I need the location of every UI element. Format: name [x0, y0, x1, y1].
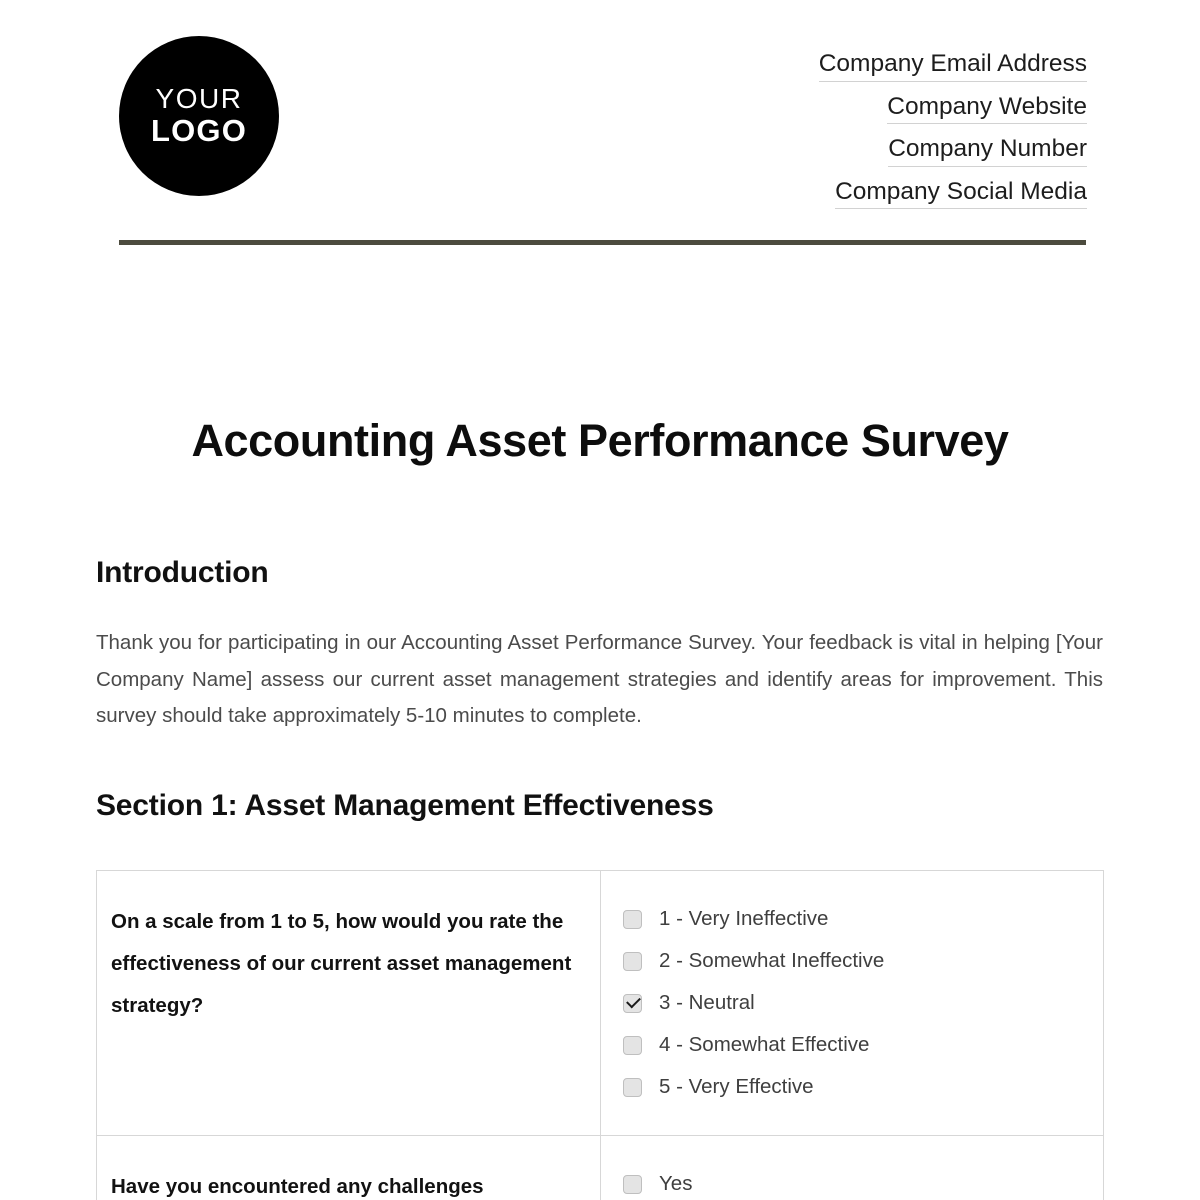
list-item[interactable]: 5 - Very Effective — [623, 1067, 1103, 1109]
checkbox-option-3[interactable] — [623, 994, 642, 1013]
logo-text-your: YOUR — [156, 83, 243, 114]
checkbox-option-yes[interactable] — [623, 1175, 642, 1194]
table-row: Have you encountered any challenges Yes — [97, 1135, 1104, 1200]
option-label: 3 - Neutral — [659, 993, 755, 1014]
checkbox-option-4[interactable] — [623, 1036, 642, 1055]
option-label: 4 - Somewhat Effective — [659, 1035, 869, 1056]
introduction-paragraph: Thank you for participating in our Accou… — [96, 625, 1103, 735]
survey-document-page: YOUR LOGO Company Email Address Company … — [0, 0, 1200, 1200]
question-text: On a scale from 1 to 5, how would you ra… — [97, 871, 600, 1107]
table-row: On a scale from 1 to 5, how would you ra… — [97, 870, 1104, 1135]
option-label: 1 - Very Ineffective — [659, 909, 828, 930]
list-item[interactable]: 4 - Somewhat Effective — [623, 1025, 1103, 1067]
list-item[interactable]: 1 - Very Ineffective — [623, 899, 1103, 941]
question-cell: Have you encountered any challenges — [97, 1135, 601, 1200]
option-label: Yes — [659, 1174, 692, 1195]
option-label: 5 - Very Effective — [659, 1077, 814, 1098]
checkbox-option-2[interactable] — [623, 952, 642, 971]
option-label: 2 - Somewhat Ineffective — [659, 951, 884, 972]
introduction-heading: Introduction — [96, 556, 1103, 590]
header-divider-rule — [119, 240, 1086, 245]
page-title: Accounting Asset Performance Survey — [0, 415, 1200, 467]
contact-number[interactable]: Company Number — [888, 137, 1087, 167]
list-item[interactable]: 2 - Somewhat Ineffective — [623, 941, 1103, 983]
company-logo: YOUR LOGO — [119, 36, 279, 196]
survey-questions-table: On a scale from 1 to 5, how would you ra… — [96, 870, 1104, 1200]
contact-email-address[interactable]: Company Email Address — [819, 52, 1087, 82]
answer-cell: 1 - Very Ineffective 2 - Somewhat Ineffe… — [601, 870, 1104, 1135]
list-item[interactable]: 3 - Neutral — [623, 983, 1103, 1025]
answer-cell: Yes — [601, 1135, 1104, 1200]
checkbox-option-5[interactable] — [623, 1078, 642, 1097]
contact-website[interactable]: Company Website — [887, 95, 1087, 125]
company-contact-block: Company Email Address Company Website Co… — [819, 36, 1087, 209]
option-list: Yes — [601, 1136, 1103, 1200]
logo-text-logo: LOGO — [151, 114, 247, 149]
question-cell: On a scale from 1 to 5, how would you ra… — [97, 870, 601, 1135]
contact-social-media[interactable]: Company Social Media — [835, 180, 1087, 210]
section-1-heading: Section 1: Asset Management Effectivenes… — [96, 789, 1103, 823]
option-list: 1 - Very Ineffective 2 - Somewhat Ineffe… — [601, 871, 1103, 1135]
list-item[interactable]: Yes — [623, 1164, 1103, 1200]
document-body: Introduction Thank you for participating… — [96, 556, 1103, 1200]
document-header: YOUR LOGO Company Email Address Company … — [119, 36, 1087, 212]
checkbox-option-1[interactable] — [623, 910, 642, 929]
question-text: Have you encountered any challenges — [97, 1136, 600, 1200]
